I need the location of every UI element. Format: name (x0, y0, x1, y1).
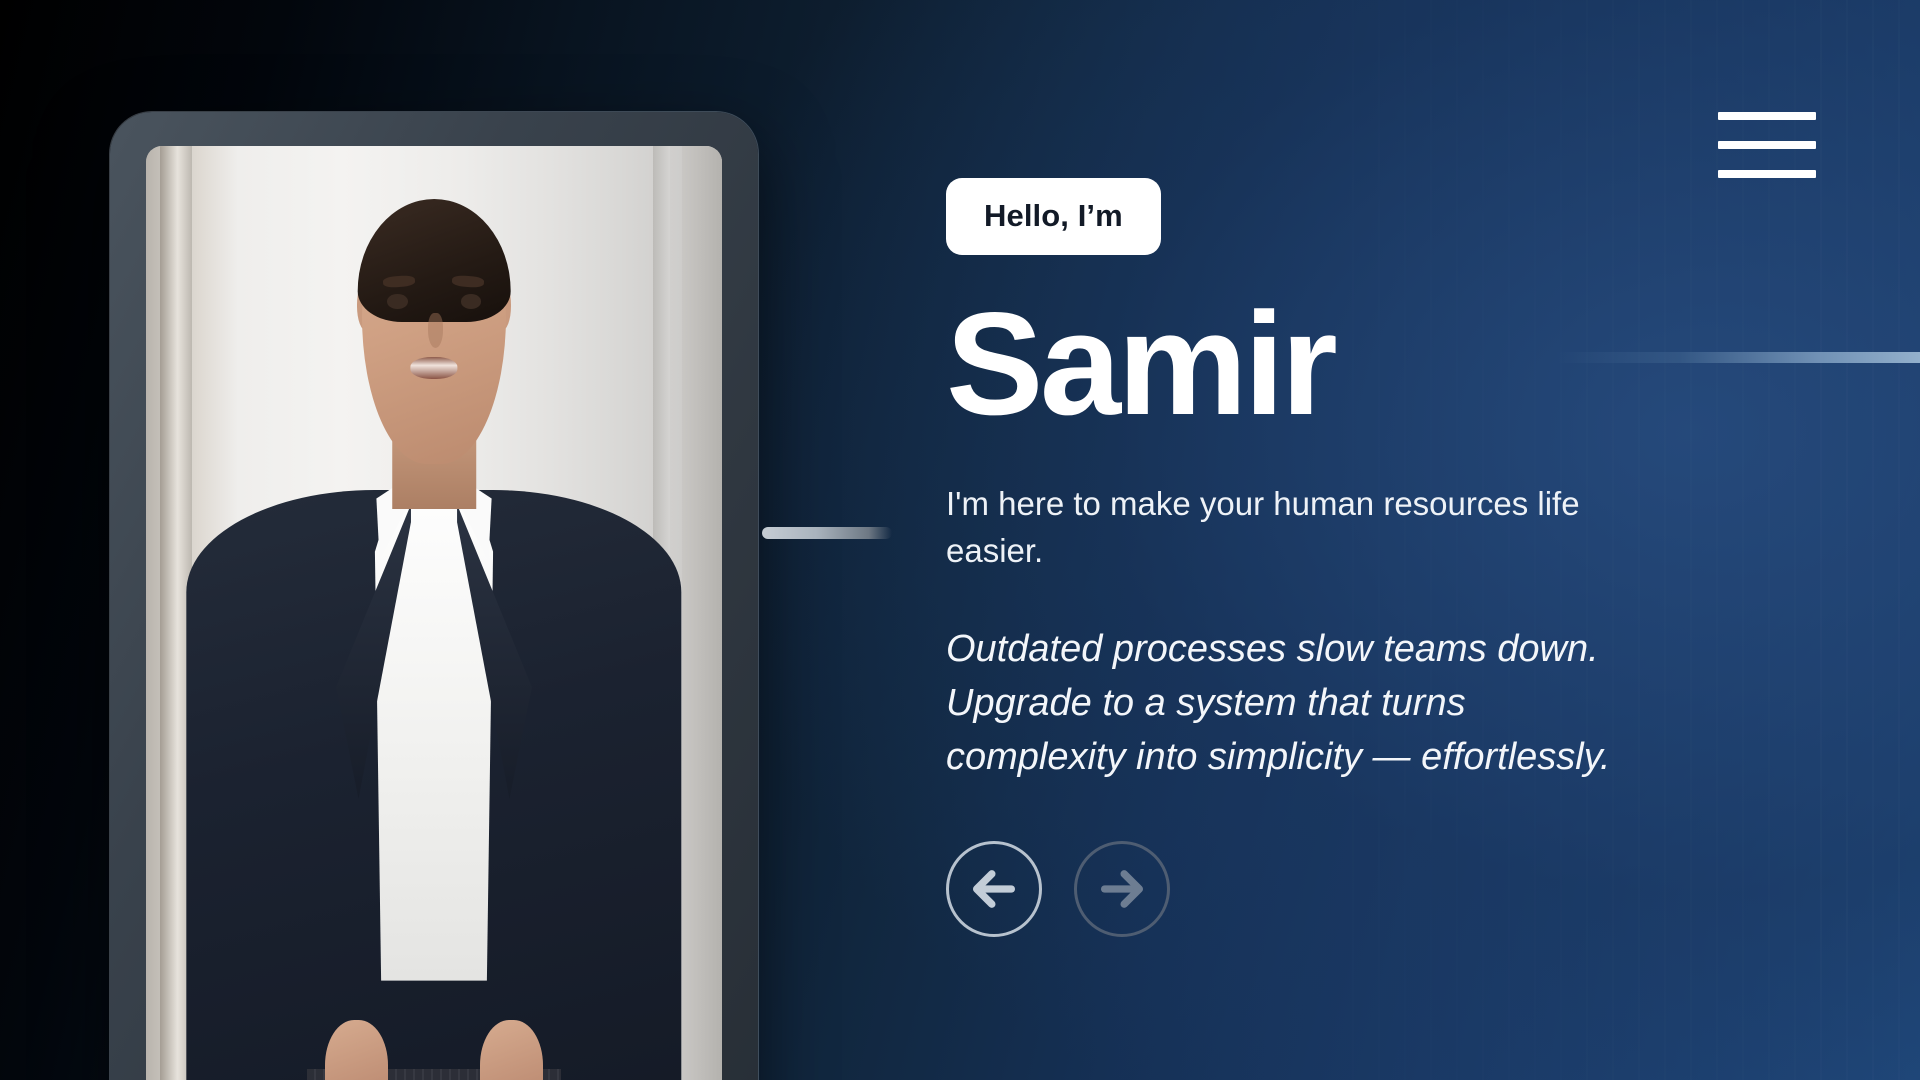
hero-subtitle: I'm here to make your human resources li… (946, 481, 1666, 575)
mouth (410, 357, 457, 379)
carousel-prev-button[interactable] (946, 841, 1042, 937)
carousel-next-button[interactable] (1074, 841, 1170, 937)
hair (358, 199, 511, 322)
eye-right (461, 294, 482, 309)
hero-section: Hello, I’m Samir I'm here to make your h… (0, 0, 1920, 1080)
presenter-video[interactable] (146, 146, 722, 1080)
eye-left (387, 294, 408, 309)
hero-pitch: Outdated processes slow teams down. Upgr… (946, 623, 1646, 785)
page-title: Samir (946, 291, 1706, 437)
presenter-figure (146, 146, 722, 1080)
hamburger-menu-icon[interactable] (1718, 112, 1816, 178)
menu-bar-3 (1718, 170, 1816, 178)
hello-badge: Hello, I’m (946, 178, 1161, 255)
left-accent-bar (762, 527, 892, 539)
device-mockup (110, 112, 758, 1080)
arrow-left-icon (968, 863, 1020, 915)
menu-bar-2 (1718, 141, 1816, 149)
arrow-right-icon (1096, 863, 1148, 915)
menu-bar-1 (1718, 112, 1816, 120)
carousel-controls (946, 841, 1706, 937)
hero-content: Hello, I’m Samir I'm here to make your h… (946, 178, 1706, 937)
